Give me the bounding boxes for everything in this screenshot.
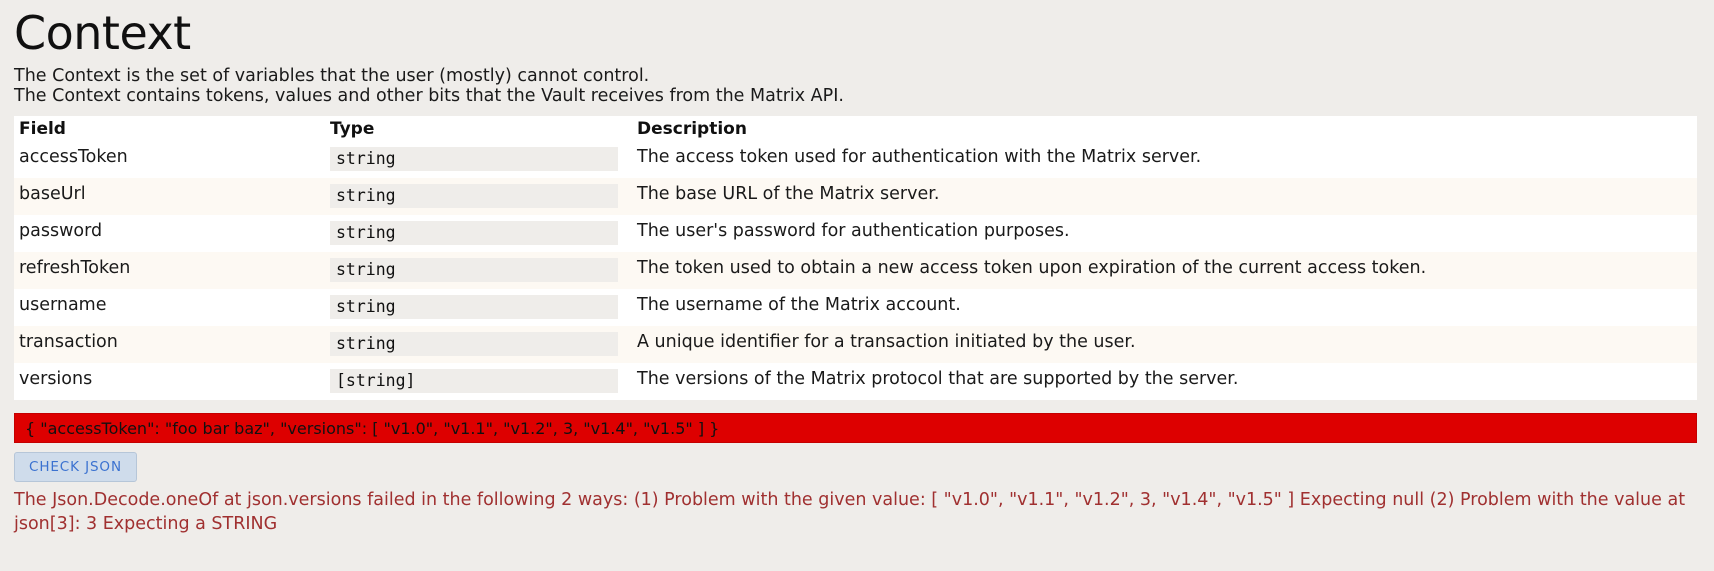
cell-field: username	[14, 289, 325, 326]
intro-line-1: The Context is the set of variables that…	[14, 66, 1714, 86]
context-table-container: Field Type Description accessToken strin…	[14, 116, 1697, 400]
cell-type: [string]	[325, 363, 632, 400]
context-table: Field Type Description accessToken strin…	[14, 116, 1697, 400]
intro-paragraph: The Context is the set of variables that…	[0, 60, 1714, 106]
check-json-button[interactable]: CHECK JSON	[14, 452, 137, 482]
cell-field: accessToken	[14, 141, 325, 178]
type-code: string	[330, 332, 618, 356]
cell-type: string	[325, 289, 632, 326]
table-row: refreshToken string The token used to ob…	[14, 252, 1697, 289]
column-header-field: Field	[14, 116, 325, 141]
json-input[interactable]	[14, 413, 1697, 443]
type-code: string	[330, 147, 618, 171]
table-row: username string The username of the Matr…	[14, 289, 1697, 326]
cell-type: string	[325, 215, 632, 252]
column-header-description: Description	[632, 116, 1697, 141]
cell-description: The base URL of the Matrix server.	[632, 178, 1697, 215]
context-page: Context The Context is the set of variab…	[0, 0, 1714, 571]
cell-description: The user's password for authentication p…	[632, 215, 1697, 252]
type-code: string	[330, 258, 618, 282]
cell-description: The token used to obtain a new access to…	[632, 252, 1697, 289]
table-row: versions [string] The versions of the Ma…	[14, 363, 1697, 400]
type-code: string	[330, 184, 618, 208]
cell-description: The access token used for authentication…	[632, 141, 1697, 178]
type-code: string	[330, 295, 618, 319]
cell-type: string	[325, 178, 632, 215]
table-row: accessToken string The access token used…	[14, 141, 1697, 178]
cell-description: A unique identifier for a transaction in…	[632, 326, 1697, 363]
table-header: Field Type Description	[14, 116, 1697, 141]
cell-field: baseUrl	[14, 178, 325, 215]
intro-line-2: The Context contains tokens, values and …	[14, 86, 1714, 106]
table-row: transaction string A unique identifier f…	[14, 326, 1697, 363]
table-body: accessToken string The access token used…	[14, 141, 1697, 400]
cell-field: refreshToken	[14, 252, 325, 289]
cell-field: password	[14, 215, 325, 252]
json-error-message: The Json.Decode.oneOf at json.versions f…	[14, 488, 1694, 536]
cell-description: The versions of the Matrix protocol that…	[632, 363, 1697, 400]
page-title: Context	[0, 0, 1714, 60]
cell-type: string	[325, 326, 632, 363]
type-code: [string]	[330, 369, 618, 393]
table-header-row: Field Type Description	[14, 116, 1697, 141]
cell-field: versions	[14, 363, 325, 400]
column-header-type: Type	[325, 116, 632, 141]
table-row: baseUrl string The base URL of the Matri…	[14, 178, 1697, 215]
cell-type: string	[325, 252, 632, 289]
cell-description: The username of the Matrix account.	[632, 289, 1697, 326]
cell-field: transaction	[14, 326, 325, 363]
type-code: string	[330, 221, 618, 245]
cell-type: string	[325, 141, 632, 178]
table-row: password string The user's password for …	[14, 215, 1697, 252]
